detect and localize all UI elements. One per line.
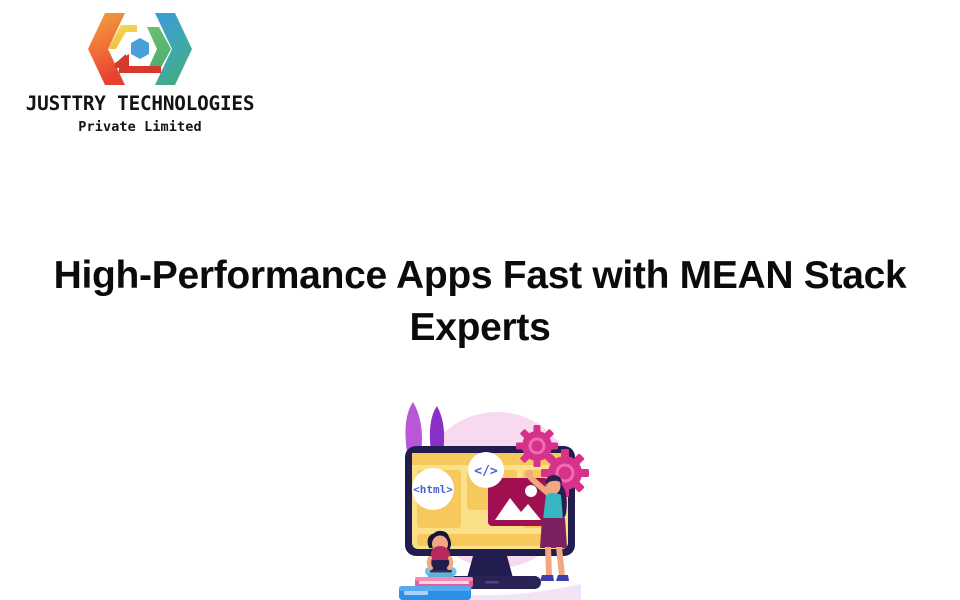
hero-illustration: <html> </> — [385, 398, 595, 600]
bubble-label-html: <html> — [413, 483, 453, 496]
company-logo[interactable]: JUSTTRY TECHNOLOGIES Private Limited — [12, 8, 268, 134]
book-stack — [399, 577, 473, 600]
justtry-hexagon-logo-mark — [85, 8, 195, 90]
bubble-label-code: </> — [474, 464, 498, 479]
company-name: JUSTTRY TECHNOLOGIES — [13, 94, 266, 114]
page-title: High-Performance Apps Fast with MEAN Sta… — [0, 250, 960, 354]
web-development-illustration: <html> </> — [385, 398, 595, 600]
company-suffix: Private Limited — [12, 121, 268, 135]
